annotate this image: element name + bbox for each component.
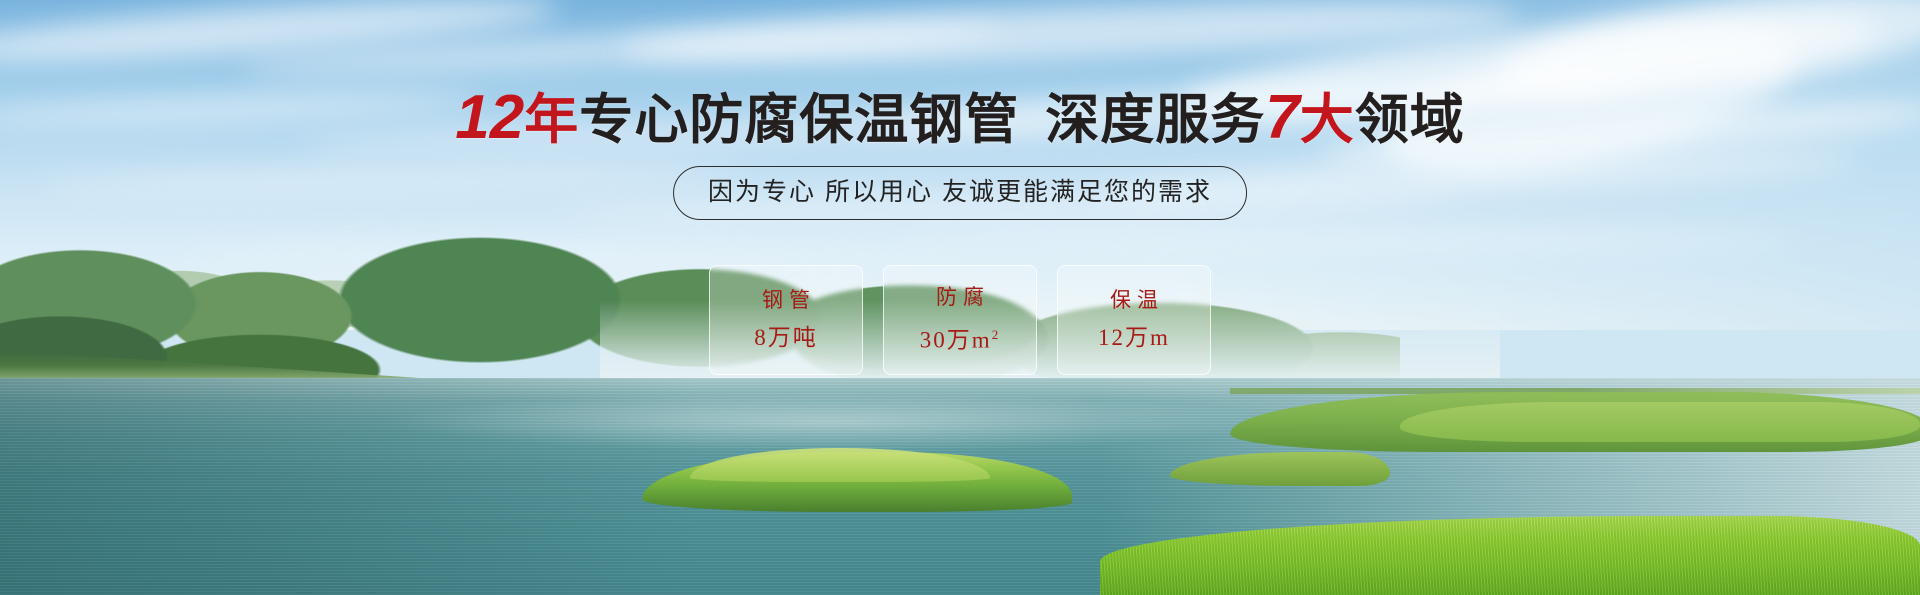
headline-service-text: 深度服务 — [1045, 90, 1265, 150]
headline-fields-number: 7 — [1265, 83, 1299, 152]
banner-headline: 12年专心防腐保温钢管深度服务7大领域 — [0, 88, 1920, 150]
stat-card-anticorrosion[interactable]: 防腐 30万m2 — [883, 265, 1037, 375]
stat-card-value: 30万m2 — [920, 322, 1000, 354]
headline-main-text: 专心防腐保温钢管 — [579, 90, 1019, 150]
stat-card-steel-pipe[interactable]: 钢管 8万吨 — [709, 265, 863, 375]
stat-card-row: 钢管 8万吨 防腐 30万m2 保温 12万m — [709, 265, 1211, 375]
hero-banner: 12年专心防腐保温钢管深度服务7大领域 因为专心 所以用心 友诚更能满足您的需求… — [0, 0, 1920, 595]
stat-card-value: 12万m — [1098, 325, 1170, 351]
headline-fields-text: 领域 — [1355, 90, 1465, 150]
headline-fields-unit-red: 大 — [1300, 90, 1355, 150]
headline-years-number: 12 — [455, 83, 524, 152]
stat-card-value-exponent: 2 — [992, 327, 1001, 342]
stat-card-value: 8万吨 — [754, 325, 818, 351]
marsh-grass-right — [1400, 402, 1920, 442]
stat-card-insulation[interactable]: 保温 12万m — [1057, 265, 1211, 375]
headline-years-unit: 年 — [524, 90, 579, 150]
stat-card-title: 防腐 — [930, 286, 990, 310]
water-sheen — [380, 392, 1280, 452]
stat-card-title: 保温 — [1104, 289, 1164, 313]
banner-subtitle-pill: 因为专心 所以用心 友诚更能满足您的需求 — [673, 166, 1247, 220]
stat-card-title: 钢管 — [756, 289, 816, 313]
